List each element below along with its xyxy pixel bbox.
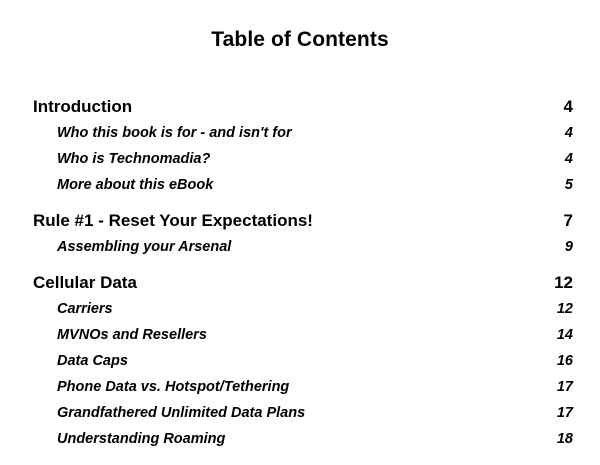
toc-section-row[interactable]: More about this eBook5 [33, 175, 573, 195]
toc-chapter-row[interactable]: Introduction4 [33, 96, 573, 117]
toc-entry-page-number: 4 [565, 149, 573, 169]
toc-entry-label: Grandfathered Unlimited Data Plans [57, 403, 305, 423]
toc-entry-label: Understanding Roaming [57, 429, 225, 449]
toc-section-row[interactable]: Data Caps16 [33, 351, 573, 371]
toc-entry-label: More about this eBook [57, 175, 213, 195]
toc-entry-label: MVNOs and Resellers [57, 325, 207, 345]
toc-section-row[interactable]: Assembling your Arsenal9 [33, 237, 573, 257]
toc-entry-label: Cellular Data [33, 272, 137, 293]
toc-list: Introduction4Who this book is for - and … [0, 96, 600, 449]
toc-entry-page-number: 14 [557, 325, 573, 345]
toc-entry-label: Rule #1 - Reset Your Expectations! [33, 210, 313, 231]
toc-entry-page-number: 16 [557, 351, 573, 371]
toc-entry-page-number: 17 [557, 377, 573, 397]
toc-entry-label: Introduction [33, 96, 132, 117]
toc-entry-page-number: 18 [557, 429, 573, 449]
toc-section-row[interactable]: Carriers12 [33, 299, 573, 319]
toc-entry-page-number: 12 [557, 299, 573, 319]
toc-entry-label: Data Caps [57, 351, 128, 371]
toc-section-row[interactable]: Grandfathered Unlimited Data Plans17 [33, 403, 573, 423]
toc-page: Table of Contents Introduction4Who this … [0, 0, 600, 465]
toc-entry-page-number: 5 [565, 175, 573, 195]
toc-entry-page-number: 12 [554, 272, 573, 293]
toc-section-row[interactable]: Understanding Roaming18 [33, 429, 573, 449]
toc-entry-page-number: 9 [565, 237, 573, 257]
toc-entry-label: Assembling your Arsenal [57, 237, 231, 257]
toc-chapter-row[interactable]: Cellular Data12 [33, 272, 573, 293]
toc-entry-label: Who is Technomadia? [57, 149, 210, 169]
toc-chapter-row[interactable]: Rule #1 - Reset Your Expectations!7 [33, 210, 573, 231]
toc-section-row[interactable]: Who this book is for - and isn't for4 [33, 123, 573, 143]
toc-section-row[interactable]: MVNOs and Resellers14 [33, 325, 573, 345]
page-title: Table of Contents [0, 27, 600, 53]
toc-section-row[interactable]: Phone Data vs. Hotspot/Tethering17 [33, 377, 573, 397]
toc-entry-label: Who this book is for - and isn't for [57, 123, 292, 143]
toc-entry-page-number: 4 [564, 96, 573, 117]
toc-entry-page-number: 17 [557, 403, 573, 423]
toc-entry-page-number: 4 [565, 123, 573, 143]
toc-entry-label: Carriers [57, 299, 113, 319]
toc-section-row[interactable]: Who is Technomadia?4 [33, 149, 573, 169]
toc-entry-page-number: 7 [564, 210, 573, 231]
toc-entry-label: Phone Data vs. Hotspot/Tethering [57, 377, 289, 397]
